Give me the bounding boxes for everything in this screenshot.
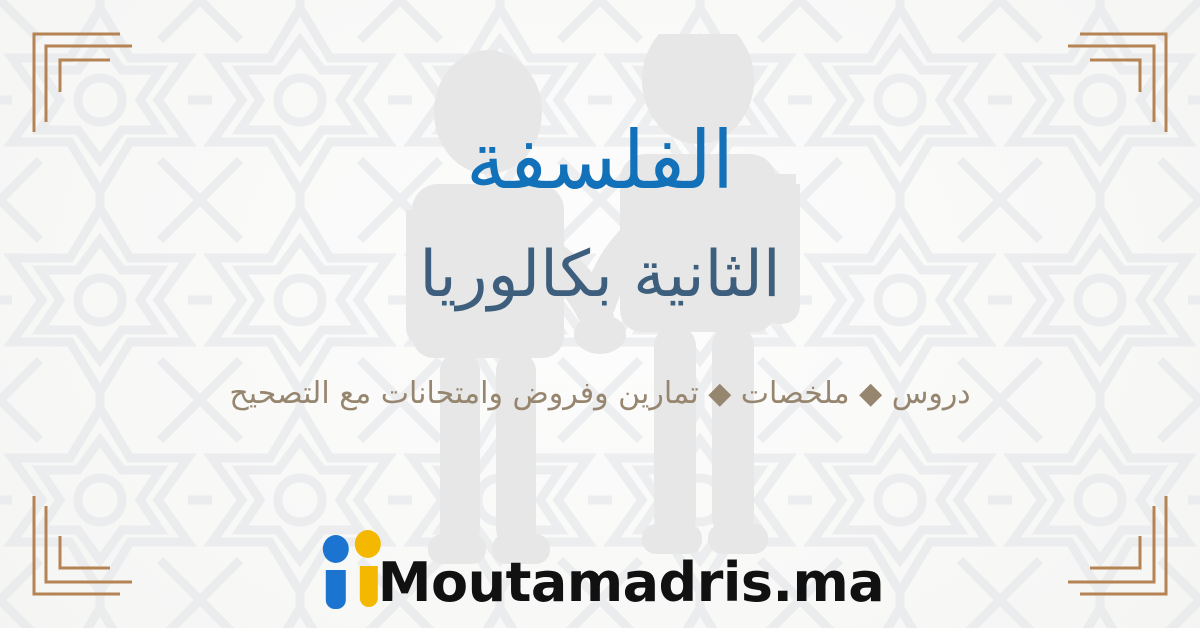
poster-canvas: الفلسفة الثانية بكالوريا دروس ◆ ملخصات ◆… bbox=[0, 0, 1200, 628]
page-title: الفلسفة bbox=[466, 118, 734, 204]
brand-wordmark: Moutamadris.ma bbox=[378, 556, 884, 610]
page-tagline: دروس ◆ ملخصات ◆ تمارين وفروض وامتحانات م… bbox=[229, 374, 970, 413]
brand-lockup: Moutamadris.ma bbox=[316, 528, 884, 612]
page-subtitle: الثانية بكالوريا bbox=[419, 240, 780, 312]
